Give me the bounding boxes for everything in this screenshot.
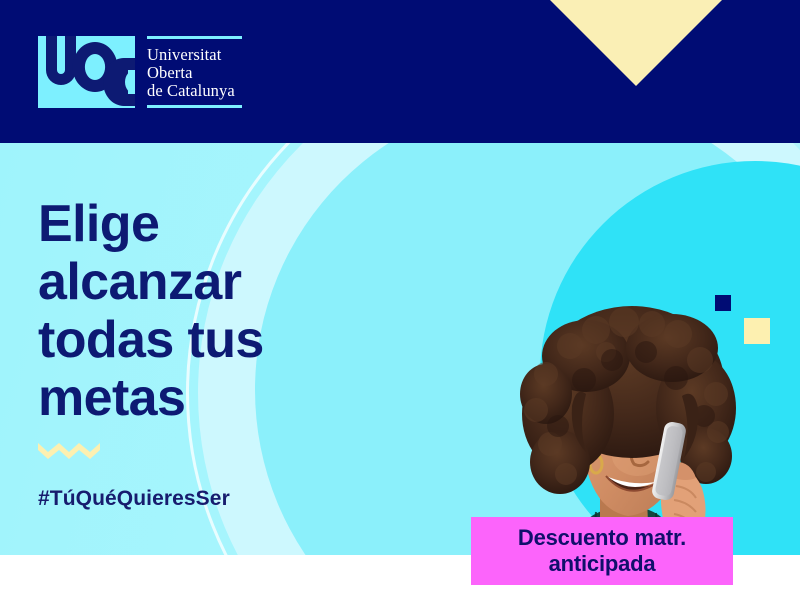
zigzag-icon bbox=[38, 441, 100, 459]
uoc-logo-icon[interactable]: Universitat Oberta de Catalunya bbox=[38, 36, 242, 108]
logo-name-line-3: de Catalunya bbox=[147, 82, 242, 100]
page-title: Elige alcanzartodas tusmetas bbox=[38, 195, 368, 427]
logo-name-line-2: Oberta bbox=[147, 64, 242, 82]
hero-stage: Elige alcanzartodas tusmetas #TúQuéQuier… bbox=[0, 143, 800, 555]
badge-line-2: anticipada bbox=[549, 551, 656, 577]
uoc-promo-banner: Universitat Oberta de Catalunya Elige al… bbox=[0, 0, 800, 600]
uoc-logo-wordmark: Universitat Oberta de Catalunya bbox=[147, 36, 242, 108]
chevron-down-icon bbox=[550, 0, 722, 126]
status-badge[interactable]: Descuento matr. anticipada bbox=[471, 517, 733, 585]
header-bar: Universitat Oberta de Catalunya bbox=[0, 0, 800, 143]
logo-rule-bottom bbox=[147, 105, 242, 108]
woman-on-phone-with-laptop-photo bbox=[400, 286, 800, 555]
badge-line-1: Descuento matr. bbox=[518, 525, 686, 551]
logo-rule-top bbox=[147, 36, 242, 39]
campaign-hashtag: #TúQuéQuieresSer bbox=[38, 487, 368, 511]
hero-copy: Elige alcanzartodas tusmetas #TúQuéQuier… bbox=[38, 195, 368, 511]
logo-name-line-1: Universitat bbox=[147, 46, 242, 64]
uoc-logo-mark bbox=[38, 36, 135, 108]
